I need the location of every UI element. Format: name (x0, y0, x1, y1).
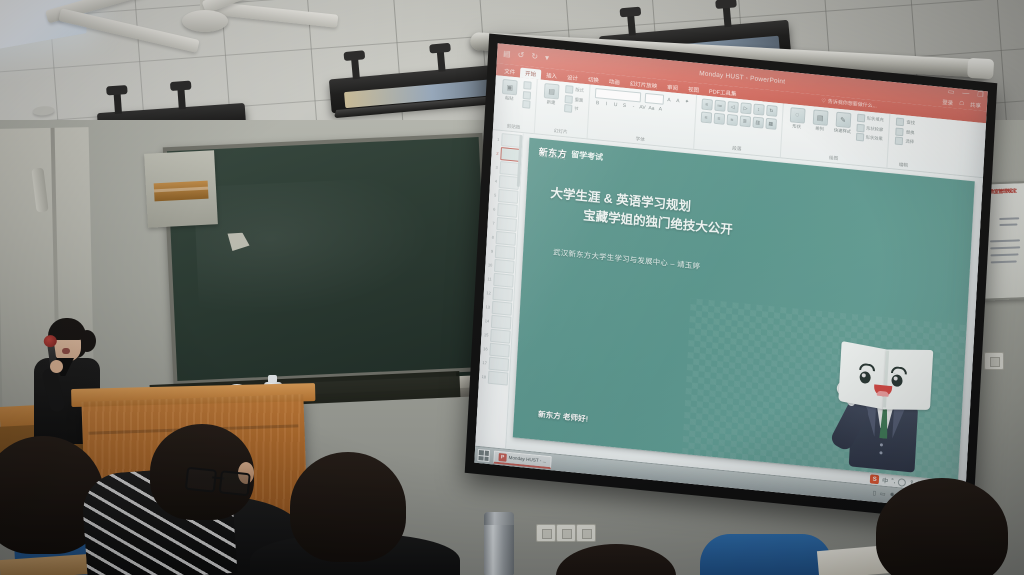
classroom-chair (700, 534, 832, 575)
wall-power-outlet[interactable] (536, 524, 556, 542)
slide-preview[interactable] (490, 329, 511, 344)
sanitizer-nozzle (268, 375, 277, 383)
ribbon-group-slides: ▤ 新建 版式 重置 节 幻灯片 (535, 79, 590, 138)
share-label[interactable]: 共享 (970, 101, 981, 110)
font-size-input[interactable] (644, 93, 663, 105)
slide-number: 10 (486, 262, 492, 268)
editing-group-label: 编辑 (899, 162, 909, 170)
glasses-lens-right (219, 470, 251, 496)
section-icon (564, 104, 572, 113)
arrange-icon: ▤ (812, 109, 828, 125)
usb-icon[interactable]: ▯ (873, 491, 877, 497)
wall-power-outlet[interactable] (556, 524, 576, 542)
sogou-logo-icon[interactable]: S (870, 474, 879, 484)
powerpoint-icon: P (498, 453, 506, 462)
quick-styles-button[interactable]: ✎ 快速样式 (833, 111, 853, 135)
new-slide-label: 新建 (547, 99, 556, 106)
lightbulb-icon: ♡ (821, 98, 826, 104)
slide-number: 2 (492, 150, 498, 156)
format-painter-item[interactable] (522, 100, 530, 109)
ribbon-group-editing: 查找 替换 选择 编辑 (887, 114, 922, 171)
change-case-icon[interactable]: Aa (648, 105, 655, 112)
slide-number: 4 (491, 178, 497, 184)
slide-preview[interactable] (497, 189, 518, 204)
projection-screen: ▤ ↺ ↻ ▾ Monday HUST - PowerPoint ▭ — ❐ (465, 33, 998, 522)
slide-subtitle: 武汉新东方大学生学习与发展中心 – 靖玉婷 (553, 247, 701, 272)
thermos-cap (484, 512, 514, 525)
layout-icon (565, 85, 573, 94)
slide-number: 11 (485, 276, 491, 282)
decrease-indent-icon[interactable]: ◁ (727, 101, 739, 113)
drawing-minis[interactable]: 形状填充 形状轮廓 形状效果 (855, 114, 884, 144)
student-head (290, 452, 406, 562)
slide-number: 3 (492, 164, 498, 170)
ceiling-fan (96, 0, 306, 76)
paste-label: 粘贴 (505, 95, 514, 102)
powerpoint-window: ▤ ↺ ↻ ▾ Monday HUST - PowerPoint ▭ — ❐ (474, 43, 988, 510)
ribbon-group-font: A A ✦ B I U S - AV (587, 84, 697, 148)
slide-preview[interactable] (491, 301, 512, 316)
slide-thumbnail[interactable]: 18 (479, 370, 510, 387)
cut-icon (523, 81, 531, 90)
editing-minis[interactable]: 查找 替换 选择 (895, 118, 915, 147)
new-oriental-logo: 新东方 NEW ORIENTAL 留学考试 (538, 145, 603, 164)
taskbar-task-powerpoint[interactable]: P Monday HUST - ... (493, 450, 551, 469)
share-icon[interactable]: ☖ (959, 101, 964, 107)
new-slide-button[interactable]: ▤ 新建 (541, 83, 561, 107)
character-spacing-icon[interactable]: AV (639, 104, 646, 111)
clear-formatting-icon[interactable]: ✦ (683, 99, 690, 106)
ribbon-group-clipboard: ▣ 粘贴 剪贴板 (493, 75, 538, 133)
notice-line (999, 223, 1017, 226)
layout-item[interactable]: 版式 (565, 85, 584, 95)
slide-number: 6 (489, 206, 495, 212)
drawing-group-label: 绘图 (829, 155, 839, 163)
wall-power-outlet[interactable] (576, 524, 596, 542)
slide-preview[interactable] (493, 259, 514, 274)
slide-preview[interactable] (490, 315, 511, 330)
slide-number: 15 (482, 332, 488, 338)
reset-icon (565, 95, 573, 104)
slide-number: 8 (488, 234, 494, 240)
find-label: 查找 (906, 120, 915, 127)
slide-preview[interactable] (497, 203, 518, 218)
replace-label: 替换 (906, 129, 915, 136)
arrange-button[interactable]: ▤ 排列 (810, 109, 830, 133)
justify-icon[interactable]: ≣ (739, 115, 751, 127)
convert-smartart-icon[interactable]: ▦ (765, 118, 777, 130)
slide-number: 14 (483, 318, 489, 324)
chalk-smear (194, 175, 450, 324)
columns-icon[interactable]: ▥ (752, 116, 764, 128)
network-icon[interactable]: ▭ (880, 491, 886, 498)
fixture-stem (113, 92, 122, 114)
reset-label: 重置 (575, 97, 584, 104)
decrease-font-icon[interactable]: A (674, 98, 681, 105)
shapes-button[interactable]: ◌ 形状 (787, 107, 807, 131)
slide-preview[interactable] (489, 343, 510, 358)
slide-number: 12 (485, 290, 491, 296)
slide-preview[interactable] (492, 287, 513, 302)
clipboard-group-label: 剪贴板 (506, 124, 520, 132)
shape-effects-icon (855, 133, 863, 142)
shape-fill-icon (857, 114, 865, 123)
presenter-hand (50, 360, 63, 373)
ribbon-group-paragraph: ≡ ≔ ◁ ▷ ↕ ↻ ≡ ≡ ≡ (694, 95, 784, 157)
increase-indent-icon[interactable]: ▷ (740, 102, 752, 114)
slide-preview[interactable] (488, 357, 509, 372)
restore-icon[interactable]: ❐ (977, 91, 984, 99)
slide-number: 16 (482, 346, 488, 352)
strikethrough-icon[interactable]: - (630, 103, 637, 110)
replace-item[interactable]: 替换 (896, 127, 915, 137)
emoji-icon[interactable] (898, 478, 906, 487)
replace-icon (896, 127, 904, 136)
copy-item[interactable] (523, 90, 531, 99)
book-mascot-icon (829, 342, 940, 476)
shadow-icon[interactable]: S (621, 103, 628, 110)
slide-preview[interactable] (494, 245, 515, 260)
slide-title: 大学生涯 & 英语学习规划 宝藏学姐的独门绝技大公开 (549, 184, 933, 260)
thermos-flask (484, 512, 514, 575)
editor-body: 1 2 3 4 5 6 7 8 9 10 11 12 13 (475, 130, 983, 494)
minimize-icon[interactable]: — (962, 90, 969, 98)
slide-number: 17 (481, 360, 487, 366)
screenshot-root: 须知 教室管理规定 ▤ ↺ ↻ (0, 0, 1024, 575)
format-painter-icon (522, 100, 530, 109)
shape-fill-label: 形状填充 (867, 116, 884, 124)
slide-preview[interactable] (496, 217, 517, 232)
notice-line (990, 253, 1018, 256)
shape-outline-icon (856, 123, 864, 132)
paragraph-group-label: 段落 (732, 146, 742, 154)
select-item[interactable]: 选择 (895, 137, 914, 147)
reset-item[interactable]: 重置 (565, 95, 584, 105)
paste-icon: ▣ (502, 79, 518, 95)
quick-styles-icon: ✎ (835, 112, 851, 128)
font-color-icon[interactable]: A (657, 106, 664, 113)
slide-number: 9 (487, 248, 493, 254)
align-left-icon[interactable]: ≡ (700, 111, 712, 123)
slide-number: 13 (484, 304, 490, 310)
presenter-mouth (62, 348, 70, 354)
slide-number: 1 (493, 136, 499, 142)
wall-mounted-heater (144, 150, 218, 228)
ime-mode-icon[interactable]: 中 (882, 476, 888, 486)
mascot-book-head (838, 343, 933, 414)
slides-group-label: 幻灯片 (554, 128, 568, 136)
signin-label[interactable]: 登录 (942, 98, 953, 107)
bold-icon[interactable]: B (594, 100, 601, 107)
mascot-button (879, 451, 882, 454)
screen-frame: ▤ ↺ ↻ ▾ Monday HUST - PowerPoint ▭ — ❐ (465, 33, 998, 522)
shape-effects-item[interactable]: 形状效果 (855, 133, 883, 144)
layout-label: 版式 (575, 87, 584, 94)
wall-light-switch[interactable] (984, 352, 1004, 370)
ribbon-display-options-icon[interactable]: ▭ (948, 88, 955, 96)
notice-line (991, 260, 1017, 263)
roller-end-cap (967, 58, 994, 79)
italic-icon[interactable]: I (603, 101, 610, 108)
notice-subtitle-text: 教室管理规定 (989, 187, 1016, 195)
current-slide[interactable]: 新东方 NEW ORIENTAL 留学考试 大学生涯 & 英语学习规划 宝藏学姐… (513, 138, 975, 481)
notice-line (999, 217, 1019, 220)
slide-number: 18 (480, 374, 486, 380)
slide-greeting: 新东方 老师好! (538, 409, 589, 425)
bullets-icon[interactable]: ≡ (701, 98, 713, 110)
shapes-icon: ◌ (789, 107, 805, 123)
select-icon (895, 137, 903, 146)
notice-line (990, 246, 1020, 249)
shape-effects-label: 形状效果 (865, 135, 882, 143)
arrange-label: 排列 (815, 126, 824, 133)
heater-element (154, 181, 209, 202)
slide-number: 7 (489, 220, 495, 226)
glasses-lens-left (185, 467, 217, 493)
text-direction-icon[interactable]: ↻ (766, 105, 778, 117)
quick-styles-label: 快速样式 (834, 127, 851, 135)
paste-button[interactable]: ▣ 粘贴 (500, 79, 520, 103)
clipboard-minis[interactable] (522, 81, 531, 109)
slide-number: 5 (490, 192, 496, 198)
font-group-label: 字体 (635, 136, 645, 144)
logo-department-text: 留学考试 (571, 149, 603, 163)
increase-font-icon[interactable]: A (665, 97, 672, 104)
mascot-page-right (883, 349, 933, 409)
cut-item[interactable] (523, 81, 531, 90)
align-right-icon[interactable]: ≡ (726, 114, 738, 126)
section-label: 节 (574, 106, 579, 112)
shape-outline-label: 形状轮廓 (866, 125, 883, 133)
slide-preview[interactable] (487, 371, 508, 386)
slides-minis[interactable]: 版式 重置 节 (564, 85, 584, 114)
section-item[interactable]: 节 (564, 104, 583, 114)
underline-icon[interactable]: U (612, 102, 619, 109)
align-center-icon[interactable]: ≡ (713, 113, 725, 125)
taskbar-task-label: Monday HUST - ... (508, 455, 546, 464)
find-item[interactable]: 查找 (896, 118, 915, 128)
mascot-button (880, 443, 883, 446)
notice-line (990, 239, 1020, 242)
shapes-label: 形状 (792, 123, 801, 130)
fan-hub (182, 10, 228, 32)
fixture-stem (177, 87, 186, 109)
slide-preview[interactable] (493, 273, 514, 288)
slide-preview[interactable] (495, 231, 516, 246)
screen-surface: ▤ ↺ ↻ ▾ Monday HUST - PowerPoint ▭ — ❐ (474, 43, 988, 510)
slide-editing-area: 新东方 NEW ORIENTAL 留学考试 大学生涯 & 英语学习规划 宝藏学姐… (506, 133, 983, 494)
numbering-icon[interactable]: ≔ (714, 100, 726, 112)
search-icon (896, 118, 904, 127)
copy-icon (523, 90, 531, 99)
start-icon[interactable] (477, 449, 490, 462)
ribbon-group-drawing: ◌ 形状 ▤ 排列 ✎ 快速样式 (780, 103, 890, 167)
new-slide-icon: ▤ (544, 83, 560, 99)
select-label: 选择 (905, 139, 914, 146)
punctuation-icon[interactable]: °, (891, 478, 895, 484)
line-spacing-icon[interactable]: ↕ (753, 104, 765, 116)
